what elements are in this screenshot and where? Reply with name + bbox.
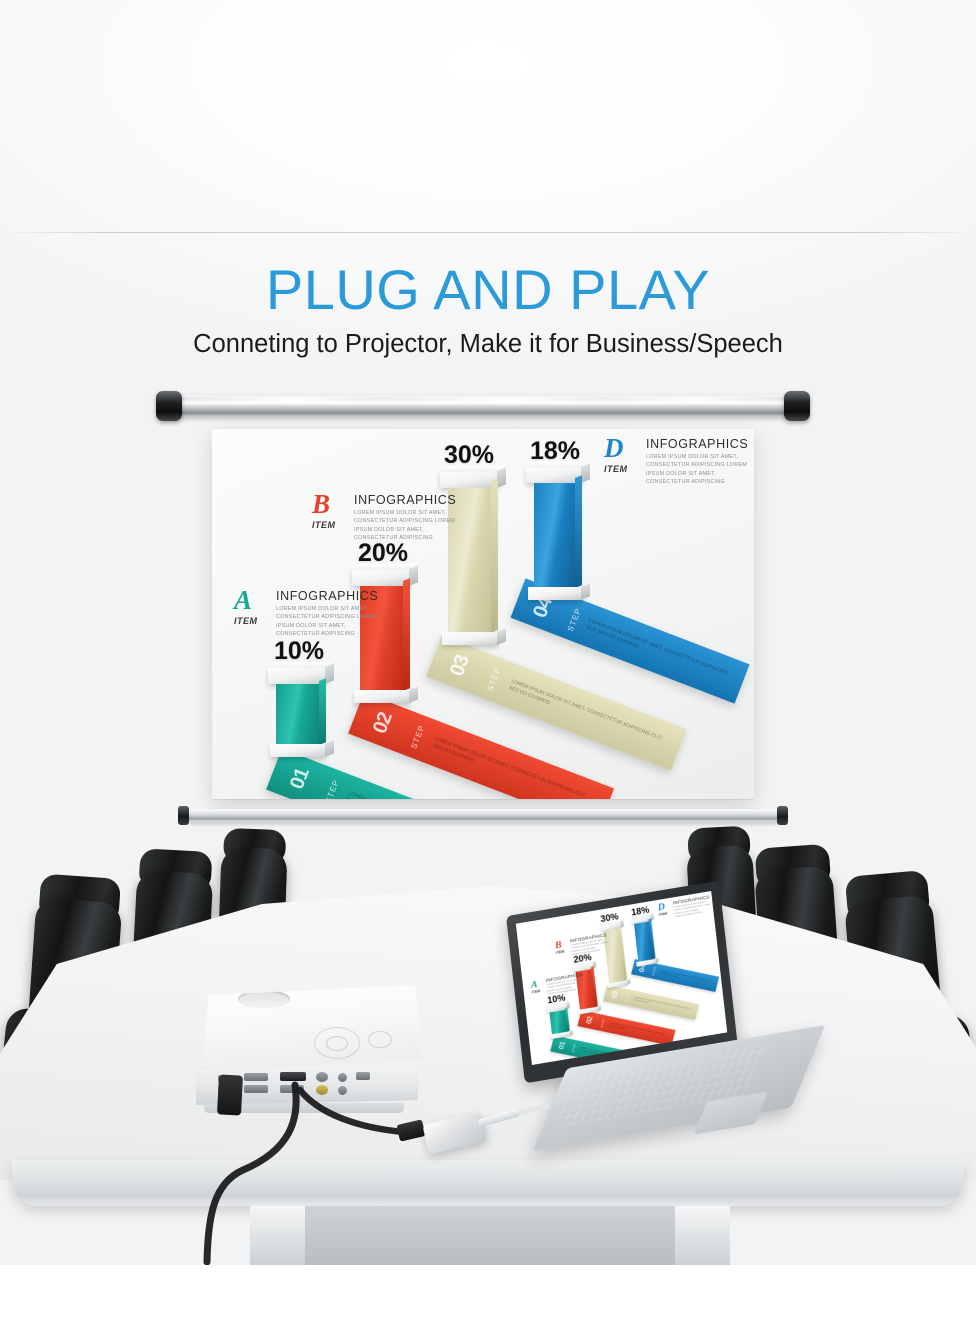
step-banner-03: 03 STEP LOREM IPSUM DOLOR SIT AMET, CONS… xyxy=(603,985,699,1020)
legend-body: LOREM IPSUM DOLOR SIT AMET, CONSECTETUR … xyxy=(646,453,754,487)
legend-body: LOREM IPSUM DOLOR SIT AMET, CONSECTETUR … xyxy=(354,509,466,543)
table-pedestal-inner xyxy=(305,1206,675,1265)
projector-focus-dial xyxy=(314,1027,360,1059)
legend-item-label: ITEM xyxy=(234,616,258,626)
bar-cap-a xyxy=(268,667,326,684)
bar-base-b xyxy=(354,690,410,703)
cap-top-face xyxy=(440,466,504,472)
step-body: LOREM IPSUM DOLOR SIT AMET, CONSECTETUR … xyxy=(344,790,495,799)
step-number: 02 xyxy=(585,1016,595,1025)
cap-side-face xyxy=(497,628,506,645)
step-body: LOREM IPSUM DOLOR SIT AMET, CONSECTETUR … xyxy=(431,736,591,799)
page-subtitle: Conneting to Projector, Make it for Busi… xyxy=(0,332,976,358)
legend-item-label: ITEM xyxy=(532,989,541,994)
projection-screen-assembly: 04 STEP LOREM IPSUM DOLOR SIT AMET, CONS… xyxy=(168,395,798,835)
projector-power-button[interactable] xyxy=(368,1031,392,1048)
step-label: STEP xyxy=(324,778,341,799)
step-number: 01 xyxy=(557,1041,567,1050)
bar-side-face xyxy=(319,678,326,745)
bar-d xyxy=(634,921,654,962)
cap-top-face xyxy=(526,462,587,468)
vga-plug-projector xyxy=(217,1074,243,1115)
infographic-laptop: 04 STEP LOREM IPSUM DOLOR SIT AMET, CONS… xyxy=(516,891,726,1058)
bar-side-face xyxy=(403,578,410,691)
vga-port-1[interactable] xyxy=(244,1073,268,1081)
laptop-screen[interactable]: 04 STEP LOREM IPSUM DOLOR SIT AMET, CONS… xyxy=(516,891,727,1065)
rca-jack-1[interactable] xyxy=(338,1073,347,1082)
roller-endcap-right xyxy=(784,391,810,421)
bar-a xyxy=(276,684,320,746)
legend-letter: B xyxy=(554,939,562,950)
step-body: LOREM IPSUM DOLOR SIT AMET, CONSECTETUR … xyxy=(585,618,729,685)
step-body: LOREM IPSUM DOLOR SIT AMET, CONSECTETUR … xyxy=(608,1022,668,1040)
step-number: 03 xyxy=(446,653,475,680)
projector-lens xyxy=(238,990,290,1008)
bar-cap-b xyxy=(352,569,410,586)
cap-side-face xyxy=(570,1029,574,1036)
step-number: 02 xyxy=(369,710,398,737)
legend-item-label: ITEM xyxy=(604,464,628,474)
audio-jack-2[interactable] xyxy=(316,1085,328,1095)
legend-heading: INFOGRAPHICS xyxy=(646,437,748,451)
cap-side-face xyxy=(581,584,590,600)
legend-letter: A xyxy=(530,979,538,990)
legend-item-label: ITEM xyxy=(556,949,565,954)
rca-jack-2[interactable] xyxy=(338,1086,347,1095)
bar-cap-c xyxy=(440,471,498,488)
serial-port[interactable] xyxy=(280,1085,304,1093)
wall-ceiling-seam xyxy=(0,232,976,233)
legend-heading: INFOGRAPHICS xyxy=(354,493,456,507)
vga-port-connected[interactable] xyxy=(280,1072,306,1081)
bar-side-face xyxy=(575,475,582,588)
weight-bar-endcap-left xyxy=(178,806,189,825)
page-title: PLUG AND PLAY xyxy=(0,262,976,318)
step-number: 03 xyxy=(610,990,620,999)
page-root: PLUG AND PLAY Conneting to Projector, Ma… xyxy=(0,0,976,1331)
step-banner-02: 02 STEP LOREM IPSUM DOLOR SIT AMET, CONS… xyxy=(577,1010,675,1046)
legend-heading: INFOGRAPHICS xyxy=(276,589,378,603)
bar-base-c xyxy=(442,632,498,645)
bar-front-face xyxy=(276,684,320,746)
bar-cap-d xyxy=(526,467,582,483)
infographic-large: 04 STEP LOREM IPSUM DOLOR SIT AMET, CONS… xyxy=(212,429,754,799)
cap-top-face xyxy=(268,662,332,668)
legend-body: LOREM IPSUM DOLOR SIT AMET, CONSECTETUR … xyxy=(276,605,388,639)
lan-port[interactable] xyxy=(356,1072,370,1080)
cap-side-face xyxy=(581,463,590,483)
step-label: STEP xyxy=(652,966,657,976)
legend-item-label: ITEM xyxy=(312,520,336,530)
roller-endcap-left xyxy=(156,391,182,421)
bar-front-face xyxy=(534,483,576,589)
cap-top-face xyxy=(352,564,416,570)
bar-base-a xyxy=(270,744,326,757)
cap-side-face xyxy=(325,740,334,757)
projection-screen-surface: 04 STEP LOREM IPSUM DOLOR SIT AMET, CONS… xyxy=(212,429,754,799)
weight-bar-endcap-right xyxy=(777,806,788,825)
hero-photo: PLUG AND PLAY Conneting to Projector, Ma… xyxy=(0,0,976,1265)
legend-letter: D xyxy=(657,901,665,912)
cap-side-face xyxy=(655,957,658,964)
roller-highlight xyxy=(186,397,780,404)
step-body: LOREM IPSUM DOLOR SIT AMET, CONSECTETUR … xyxy=(658,970,712,986)
screen-weight-bar xyxy=(186,809,780,822)
bar-side-face xyxy=(491,478,498,633)
conference-table-edge xyxy=(12,1160,964,1206)
laptop: 04 STEP LOREM IPSUM DOLOR SIT AMET, CONS… xyxy=(512,898,792,1148)
step-number: 01 xyxy=(286,765,315,792)
legend-letter: A xyxy=(234,587,252,614)
audio-jack-1[interactable] xyxy=(316,1072,328,1082)
step-label: STEP xyxy=(409,723,426,749)
step-body: LOREM IPSUM DOLOR SIT AMET, CONSECTETUR … xyxy=(507,678,664,750)
step-label: STEP xyxy=(572,1043,577,1053)
vga-port-2[interactable] xyxy=(244,1085,268,1093)
step-label: STEP xyxy=(600,1018,605,1028)
legend-item-label: ITEM xyxy=(658,911,667,916)
legend-letter: D xyxy=(604,435,624,462)
step-label: STEP xyxy=(486,666,503,692)
bar-base-d xyxy=(528,587,582,600)
cap-side-face xyxy=(409,686,418,703)
legend-letter: B xyxy=(312,491,330,518)
bar-d xyxy=(534,483,576,589)
cap-side-face xyxy=(627,978,631,985)
screen-roller-bar xyxy=(168,395,798,417)
step-label: STEP xyxy=(625,993,630,1003)
step-body: LOREM IPSUM DOLOR SIT AMET, CONSECTETUR … xyxy=(633,996,691,1013)
projector-body xyxy=(202,985,422,1071)
cap-side-face xyxy=(598,1005,602,1012)
step-label: STEP xyxy=(566,606,583,632)
